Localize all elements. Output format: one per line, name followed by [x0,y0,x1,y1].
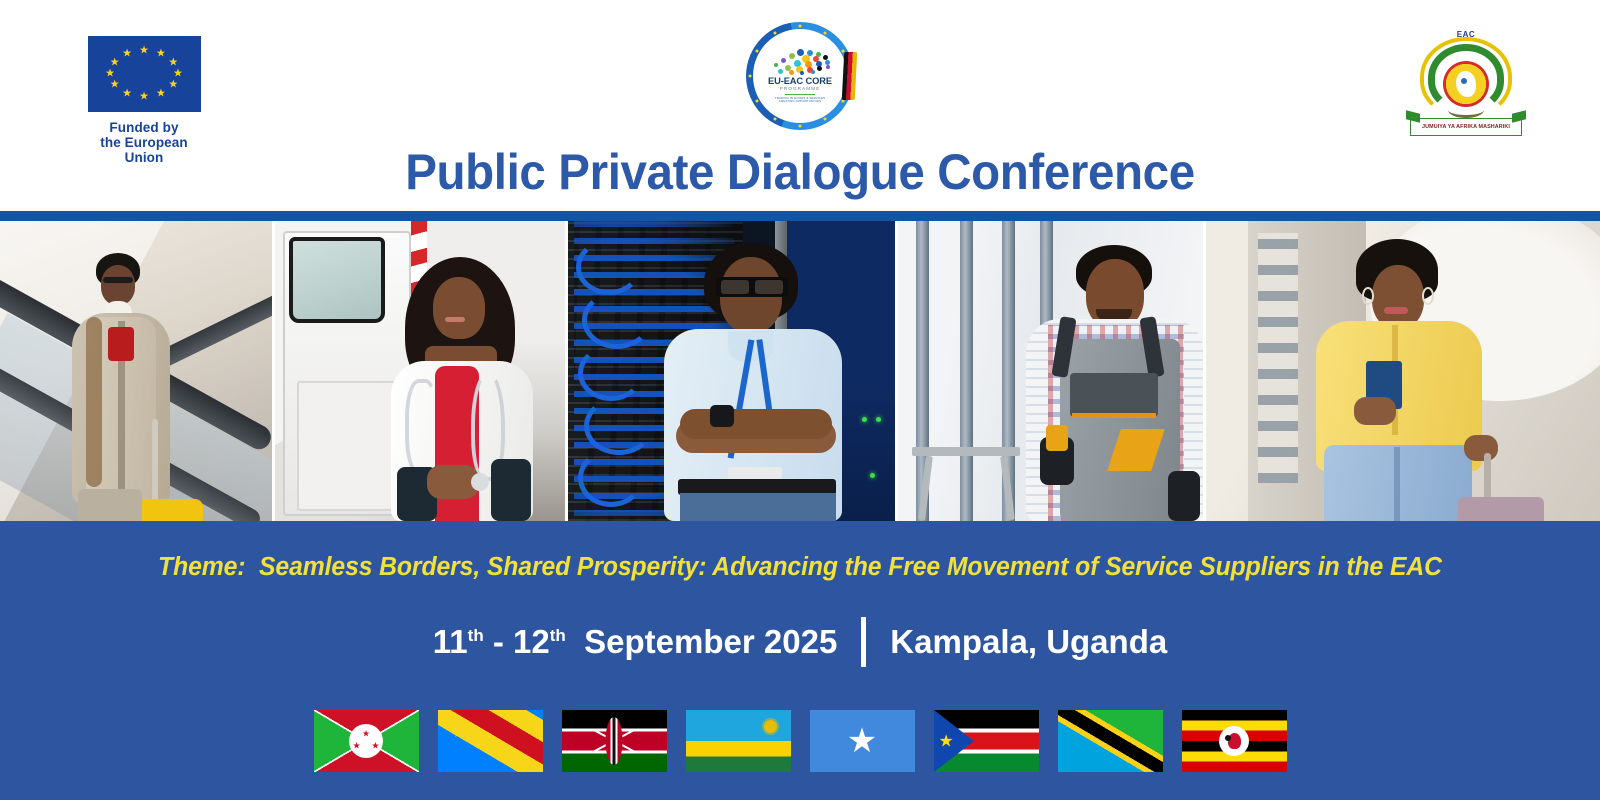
core-ring-dot [755,100,758,103]
core-cluster-dot [811,70,815,74]
eu-star-icon: ★ [122,88,132,99]
member-state-flags: ★ ★ ★ ★ ★ ★ [0,710,1600,772]
eac-handshake-icon [1448,102,1484,118]
kenya-flag [562,710,667,772]
theme-text: Seamless Borders, Shared Prosperity: Adv… [259,553,1442,581]
dr-congo-flag: ★ [438,710,543,772]
core-cluster-dot [781,58,786,63]
core-logo-inner: EU-EAC CORE PROGRAMME TRADING IN GOODS &… [757,33,843,119]
event-location: Kampala, Uganda [890,623,1167,661]
eu-star-icon: ★ [156,49,166,60]
header-divider-bar [0,211,1600,221]
traveler-passport-photo [1206,221,1600,521]
uganda-flag [1182,710,1287,772]
core-ring-dot [755,49,758,52]
core-cluster-dot [800,71,804,75]
it-technician-server-room-photo [568,221,895,521]
eu-star-icon: ★ [156,88,166,99]
eu-star-icon: ★ [139,46,149,57]
core-cluster-dot [826,65,830,69]
south-sudan-flag: ★ [934,710,1039,772]
eu-star-icon: ★ [110,57,120,68]
core-cluster-dot [825,60,830,65]
date-day-end: 12 [513,623,550,660]
somalia-flag: ★ [810,710,915,772]
tanzania-flag [1058,710,1163,772]
core-ring-dot [748,75,751,78]
theme-label: Theme: [158,553,245,581]
date-day-end-suffix: th [550,626,566,645]
eu-star-icon: ★ [168,80,178,91]
rwanda-flag [686,710,791,772]
construction-worker-photo [898,221,1203,521]
conference-theme: Theme: Seamless Borders, Shared Prosperi… [24,553,1576,582]
date-day-start: 11 [433,623,468,660]
core-logo-tagline-2: CREATING OPPORTUNITIES [779,100,821,103]
core-logo-title: EU-EAC CORE [768,76,832,86]
conference-banner: ★★★★★★★★★★★★ Funded by the European Unio… [0,0,1600,800]
core-cluster-dot [778,69,783,74]
page-title: Public Private Dialogue Conference [40,143,1560,201]
core-cluster-dot [817,66,822,71]
date-range: 11th - 12th September 2025 [433,623,838,661]
core-cluster-dot [789,70,794,75]
core-ring-dot [773,31,776,34]
date-month-year: September 2025 [584,623,837,660]
traveler-escalator-photo [0,221,272,521]
date-separator: - [493,623,504,660]
photo-strip [0,221,1600,521]
banner-footer: Theme: Seamless Borders, Shared Prosperi… [0,521,1600,800]
european-union-flag: ★★★★★★★★★★★★ [88,36,201,112]
eu-star-icon: ★ [168,57,178,68]
core-ring-dot [842,100,845,103]
eu-star-icon: ★ [139,91,149,102]
eu-star-icon: ★ [173,69,183,80]
date-location-divider [861,617,866,667]
core-logo-flag-stripe [842,52,858,100]
burundi-flag: ★ ★ ★ [314,710,419,772]
core-logo-dot-cluster [769,49,831,75]
eac-acronym-label: EAC [1457,30,1475,39]
core-ring-dot [799,125,802,128]
east-african-community-emblem: EAC JUMUIYA YA AFRIKA MASHARIKI [1406,28,1526,138]
eac-scroll-banner: JUMUIYA YA AFRIKA MASHARIKI [1410,118,1522,136]
eac-scroll-text: JUMUIYA YA AFRIKA MASHARIKI [1422,124,1510,130]
eac-region-map-icon [1456,71,1476,97]
banner-header: ★★★★★★★★★★★★ Funded by the European Unio… [0,0,1600,211]
date-day-start-suffix: th [468,626,484,645]
core-ring-dot [824,118,827,121]
eu-star-icon: ★ [122,49,132,60]
doctor-ambulance-photo [275,221,565,521]
core-cluster-dot [823,55,828,60]
core-logo-divider [785,94,815,96]
core-ring-dot [799,24,802,27]
eu-star-icon: ★ [110,80,120,91]
core-cluster-dot [789,53,795,59]
core-logo-subtitle: PROGRAMME [780,86,821,92]
eu-star-icon: ★ [105,69,115,80]
core-ring-dot [824,31,827,34]
eac-center-medallion [1443,61,1489,107]
eu-eac-core-programme-logo: EU-EAC CORE PROGRAMME TRADING IN GOODS &… [746,22,854,130]
core-cluster-dot [774,63,778,67]
core-ring-dot [773,118,776,121]
date-and-location: 11th - 12th September 2025 Kampala, Ugan… [0,617,1600,667]
eu-caption-line1: Funded by [84,120,204,135]
